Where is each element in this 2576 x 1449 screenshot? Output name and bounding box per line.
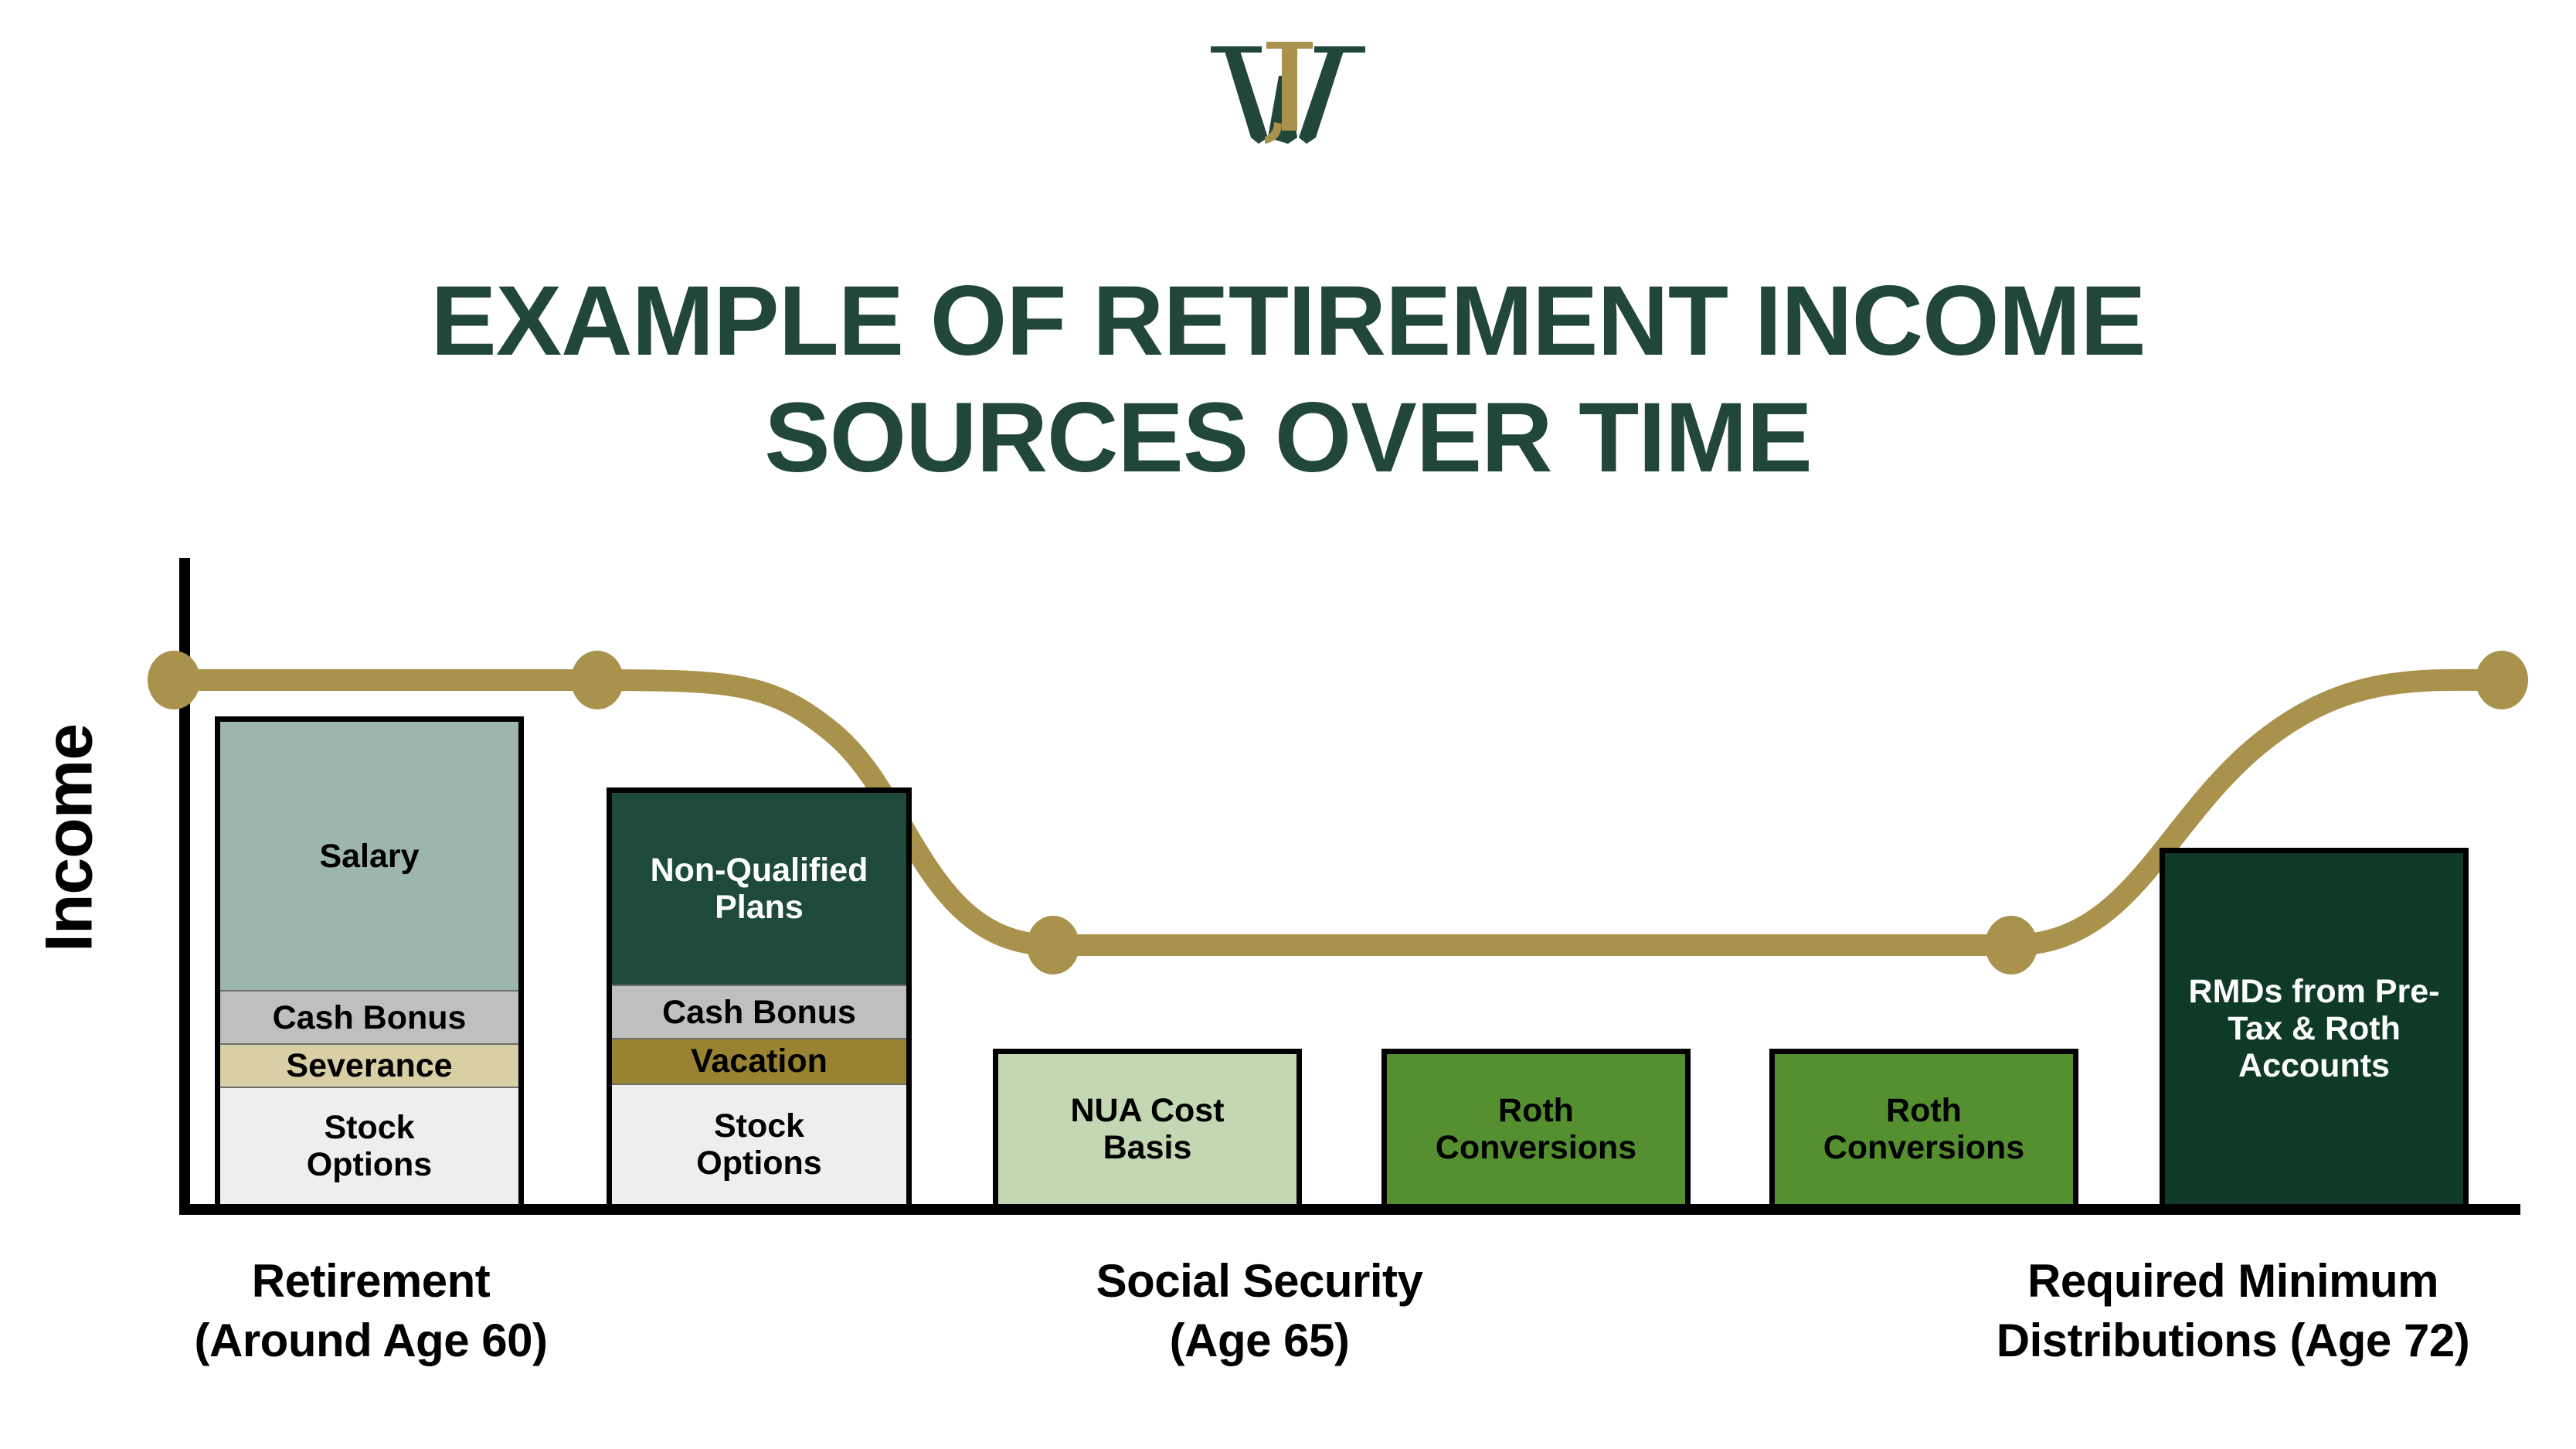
bar-segment-stock-options: Stock Options	[612, 1085, 906, 1204]
bar-2-deferred-comp-stack: Non-Qualified Plans Cash Bonus Vacation …	[607, 787, 912, 1209]
bar-segment-non-qualified-plans: Non-Qualified Plans	[612, 793, 906, 986]
bar-1-retirement-stack: Salary Cash Bonus Severance Stock Option…	[215, 716, 524, 1209]
bar-segment-cash-bonus: Cash Bonus	[612, 986, 906, 1039]
bar-segment-stock-options: Stock Options	[220, 1088, 518, 1204]
bar-segment-rmds: RMDs from Pre-Tax & Roth Accounts	[2165, 853, 2463, 1204]
bar-segment-vacation: Vacation	[612, 1039, 906, 1085]
x-category-line-2: (Age 65)	[997, 1311, 1522, 1371]
bar-segment-label: Cash Bonus	[662, 994, 856, 1031]
bar-segment-salary: Salary	[220, 722, 518, 992]
x-category-line-1: Social Security	[997, 1252, 1522, 1311]
bar-segment-label: Stock Options	[682, 1107, 837, 1182]
trend-marker-1	[148, 651, 200, 709]
bar-6-rmds: RMDs from Pre-Tax & Roth Accounts	[2160, 848, 2469, 1209]
bar-segment-label: Roth Conversions	[1820, 1092, 2028, 1166]
y-axis-label: Income	[32, 645, 108, 1032]
bar-5-roth-conversions: Roth Conversions	[1769, 1049, 2078, 1209]
chart-canvas: Income Salary Cash Bonus Severance Stock…	[0, 0, 2576, 1449]
trend-marker-3	[1027, 916, 1079, 975]
bar-segment-roth-conversions: Roth Conversions	[1387, 1054, 1685, 1204]
x-axis-category-social-security: Social Security (Age 65)	[997, 1252, 1522, 1371]
x-category-line-2: (Around Age 60)	[77, 1311, 664, 1371]
y-axis-line	[179, 558, 190, 1215]
trend-marker-4	[1985, 916, 2037, 975]
trend-marker-2	[571, 651, 624, 709]
x-axis-category-retirement: Retirement (Around Age 60)	[77, 1252, 664, 1371]
bar-segment-label: Cash Bonus	[273, 999, 467, 1036]
bar-segment-label: Severance	[286, 1047, 452, 1084]
bar-segment-label: Vacation	[691, 1043, 828, 1080]
x-category-line-1: Retirement	[77, 1252, 664, 1311]
bar-segment-label: RMDs from Pre-Tax & Roth Accounts	[2187, 973, 2442, 1084]
x-axis-category-rmd: Required Minimum Distributions (Age 72)	[1916, 1252, 2550, 1371]
bar-segment-nua-cost-basis: NUA Cost Basis	[998, 1054, 1296, 1204]
bar-segment-label: Salary	[319, 838, 419, 875]
bar-segment-label: Non-Qualified Plans	[644, 852, 875, 926]
x-category-line-1: Required Minimum	[1916, 1252, 2550, 1311]
bar-segment-label: Stock Options	[292, 1109, 447, 1183]
trend-marker-5	[2476, 651, 2528, 709]
bar-segment-label: NUA Cost Basis	[1059, 1092, 1236, 1166]
bar-segment-cash-bonus: Cash Bonus	[220, 992, 518, 1045]
bar-segment-severance: Severance	[220, 1045, 518, 1088]
bar-3-nua-cost-basis: NUA Cost Basis	[993, 1049, 1302, 1209]
bar-4-roth-conversions: Roth Conversions	[1381, 1049, 1691, 1209]
x-category-line-2: Distributions (Age 72)	[1916, 1311, 2550, 1371]
bar-segment-roth-conversions: Roth Conversions	[1775, 1054, 2073, 1204]
bar-segment-label: Roth Conversions	[1432, 1092, 1640, 1166]
